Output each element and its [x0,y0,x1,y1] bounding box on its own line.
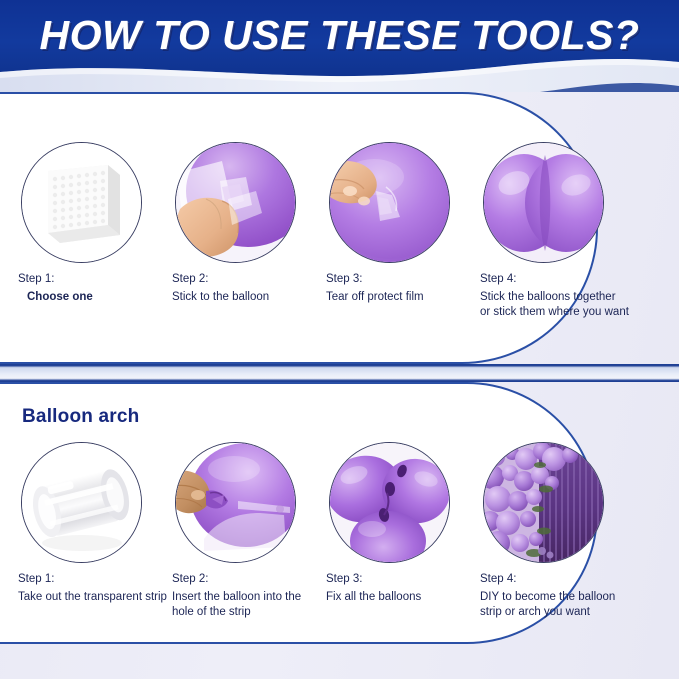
finished-balloon-arch-icon [483,442,604,563]
step-text: Fix all the balloons [326,590,476,605]
step-label: Step 1: [18,572,168,587]
glue-dot-sheet-icon [21,142,142,263]
step-text: strip or arch you want [480,605,630,620]
step-item: Step 1: Choose one [18,142,168,305]
step-label: Step 3: [326,272,476,287]
transparent-strip-roll-icon [21,442,142,563]
step-item: Step 2: Insert the balloon into the hole… [172,442,322,620]
step-label: Step 4: [480,272,630,287]
step-caption: Step 1: Take out the transparent strip [18,572,168,605]
two-balloons-joined-icon [483,142,604,263]
page-title: HOW TO USE THESE TOOLS? [0,12,679,59]
step-text: Take out the transparent strip [18,590,168,605]
step-image-wrap [175,142,296,263]
step-image-wrap [329,142,450,263]
step-label: Step 2: [172,272,322,287]
step-caption: Step 1: Choose one [18,272,168,305]
step-caption: Step 3: Tear off protect film [326,272,476,305]
steps-row-balloon-arch: Step 1: Take out the transparent strip [0,384,598,642]
step-caption: Step 4: DIY to become the balloon strip … [480,572,630,620]
steps-row-glue-dots: Step 1: Choose one [0,94,598,362]
step-text: DIY to become the balloon [480,590,630,605]
step-image-wrap [175,442,296,563]
step-text: Stick to the balloon [172,290,322,305]
balloons-fixed-cluster-icon [329,442,450,563]
step-caption: Step 2: Stick to the balloon [172,272,322,305]
step-item: Step 4: DIY to become the balloon strip … [480,442,630,620]
step-text: Tear off protect film [326,290,476,305]
poster-canvas: HOW TO USE THESE TOOLS? [0,0,679,679]
panel-glue-dots: Step 1: Choose one [0,92,598,364]
panel-balloon-arch: Balloon arch [0,382,598,644]
hand-inserting-balloon-icon [175,442,296,563]
step-text: or stick them where you want [480,305,630,320]
step-label: Step 1: [18,272,168,287]
step-image-wrap [21,142,142,263]
step-text: hole of the strip [172,605,322,620]
step-caption: Step 3: Fix all the balloons [326,572,476,605]
step-text: Stick the balloons together [480,290,630,305]
step-label: Step 4: [480,572,630,587]
step-item: Step 1: Take out the transparent strip [18,442,168,605]
step-text: Insert the balloon into the [172,590,322,605]
step-label: Step 2: [172,572,322,587]
step-label: Step 3: [326,572,476,587]
step-caption: Step 2: Insert the balloon into the hole… [172,572,322,620]
panel-divider [0,364,679,382]
step-image-wrap [483,442,604,563]
peeling-film-icon [329,142,450,263]
hand-sticking-dot-icon [175,142,296,263]
step-image-wrap [21,442,142,563]
step-item: Step 3: Fix all the balloons [326,442,476,605]
step-caption: Step 4: Stick the balloons together or s… [480,272,630,320]
header-banner: HOW TO USE THESE TOOLS? [0,0,679,92]
step-item: Step 2: Stick to the balloon [172,142,322,305]
step-text: Choose one [18,290,168,305]
step-image-wrap [329,442,450,563]
step-image-wrap [483,142,604,263]
step-item: Step 3: Tear off protect film [326,142,476,305]
step-item: Step 4: Stick the balloons together or s… [480,142,630,320]
